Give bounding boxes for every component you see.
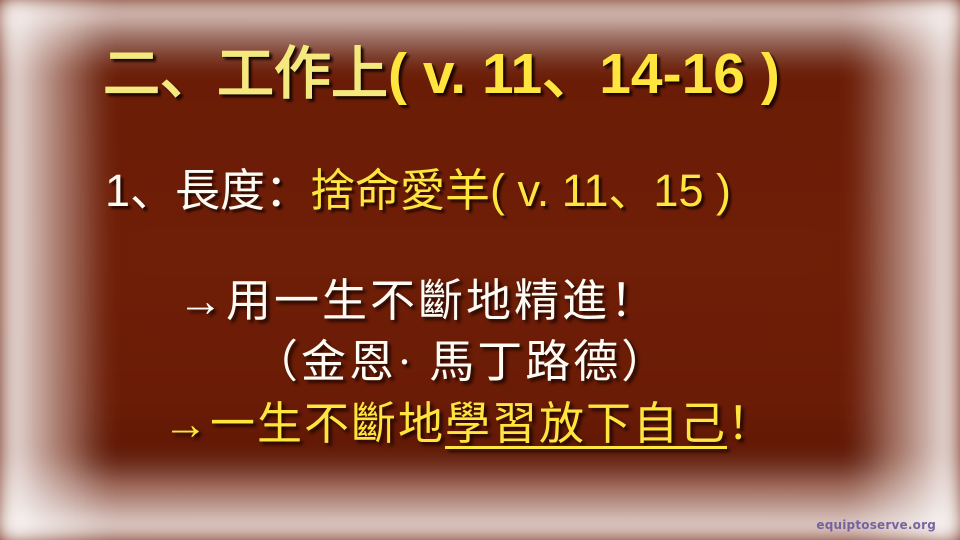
bullet-item-3-tail: ！ xyxy=(727,399,774,449)
bullet-item-3-text: 一生不斷地 xyxy=(210,399,445,449)
arrow-icon: → xyxy=(178,276,226,326)
slide-canvas: 二、工作上( v. 11、14-16 ) 1、長度：捨命愛羊( v. 11、15… xyxy=(0,0,960,540)
bullet-item-3: →一生不斷地學習放下自己！ xyxy=(163,402,774,447)
arrow-icon: → xyxy=(163,399,210,449)
watermark: equiptoserve.org xyxy=(816,518,936,532)
bullet-item-2-text: （金恩· 馬丁路德） xyxy=(253,337,669,387)
slide-content: 二、工作上( v. 11、14-16 ) 1、長度：捨命愛羊( v. 11、15… xyxy=(0,0,960,540)
title-heading: 二、工作上 xyxy=(103,42,388,106)
bullet-item-1-text: 用一生不斷地精進！ xyxy=(226,276,658,326)
point-label: 1、長度： xyxy=(105,165,310,216)
bullet-item-1: →用一生不斷地精進！ xyxy=(178,279,658,324)
bullet-item-3-emphasis: 學習放下自己 xyxy=(445,399,727,449)
slide-title: 二、工作上( v. 11、14-16 ) xyxy=(103,46,780,103)
point-line: 1、長度：捨命愛羊( v. 11、15 ) xyxy=(105,168,731,213)
bullet-item-2: （金恩· 馬丁路德） xyxy=(253,340,669,385)
title-reference: ( v. 11、14-16 ) xyxy=(388,42,780,106)
point-highlight: 捨命愛羊 xyxy=(310,165,490,216)
point-reference: ( v. 11、15 ) xyxy=(490,165,731,216)
